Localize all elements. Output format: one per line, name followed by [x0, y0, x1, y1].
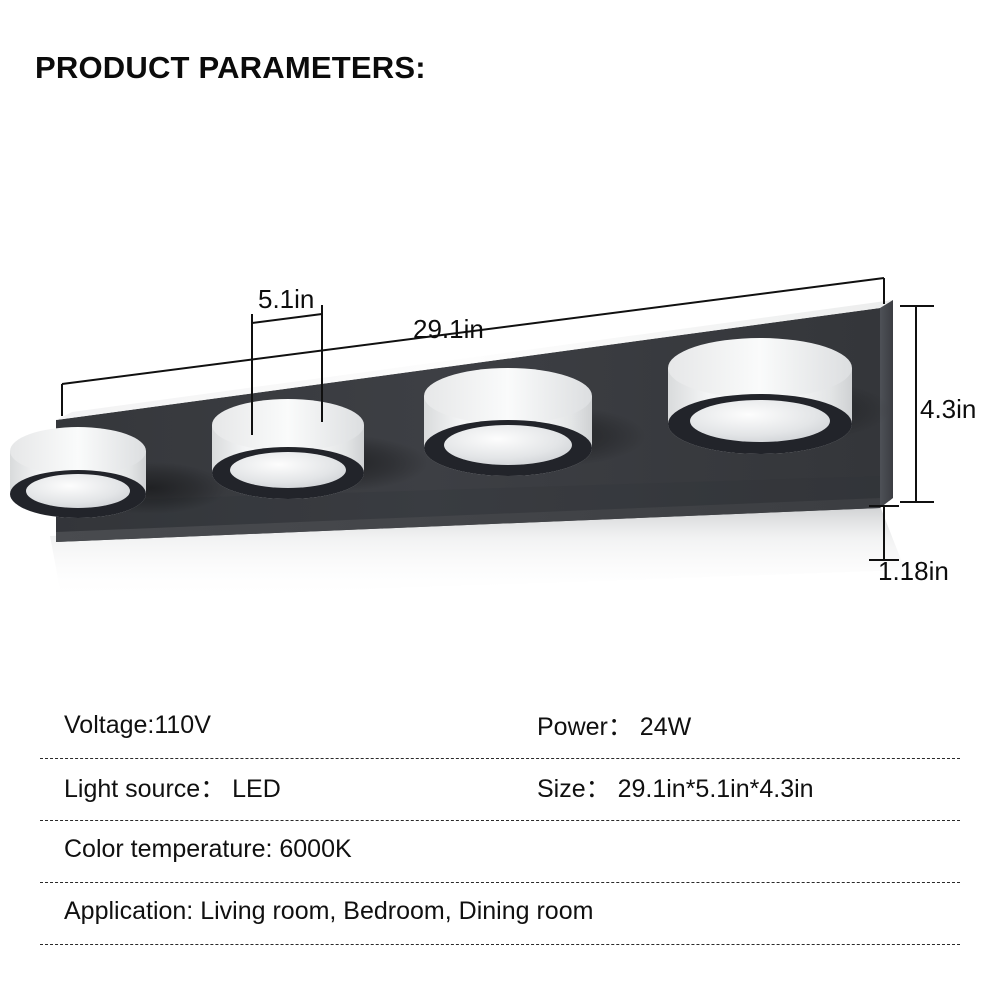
dim-label-spacing: 5.1in: [258, 284, 314, 314]
spec-voltage: Voltage:110V: [64, 711, 211, 740]
spec-application: Application: Living room, Bedroom, Dinin…: [64, 897, 593, 926]
spec-power: Power： 24W: [537, 707, 691, 743]
lamp-head-3: [424, 368, 592, 476]
specs-table: Voltage:110V Power： 24W Light source： LE…: [40, 697, 960, 945]
row-separator: [40, 944, 960, 945]
spec-light-source: Light source： LED: [64, 769, 281, 805]
dim-label-height: 4.3in: [920, 394, 976, 424]
table-row: Color temperature: 6000K: [40, 821, 960, 883]
table-row: Light source： LED Size： 29.1in*5.1in*4.3…: [40, 759, 960, 821]
lamp-head-4: [668, 338, 852, 454]
page-title: PRODUCT PARAMETERS:: [35, 50, 426, 86]
spec-color-temperature: Color temperature: 6000K: [64, 835, 352, 864]
spec-size: Size： 29.1in*5.1in*4.3in: [537, 769, 814, 805]
dim-label-length: 29.1in: [413, 314, 484, 344]
dim-label-depth: 1.18in: [878, 556, 949, 586]
product-illustration: 5.1in 29.1in 4.3in 1.18in: [0, 270, 1000, 660]
product-parameters-page: PRODUCT PARAMETERS:: [0, 0, 1000, 1000]
table-row: Application: Living room, Bedroom, Dinin…: [40, 883, 960, 945]
lamp-head-1: [10, 427, 146, 518]
lamp-head-2: [212, 399, 364, 499]
table-row: Voltage:110V Power： 24W: [40, 697, 960, 759]
